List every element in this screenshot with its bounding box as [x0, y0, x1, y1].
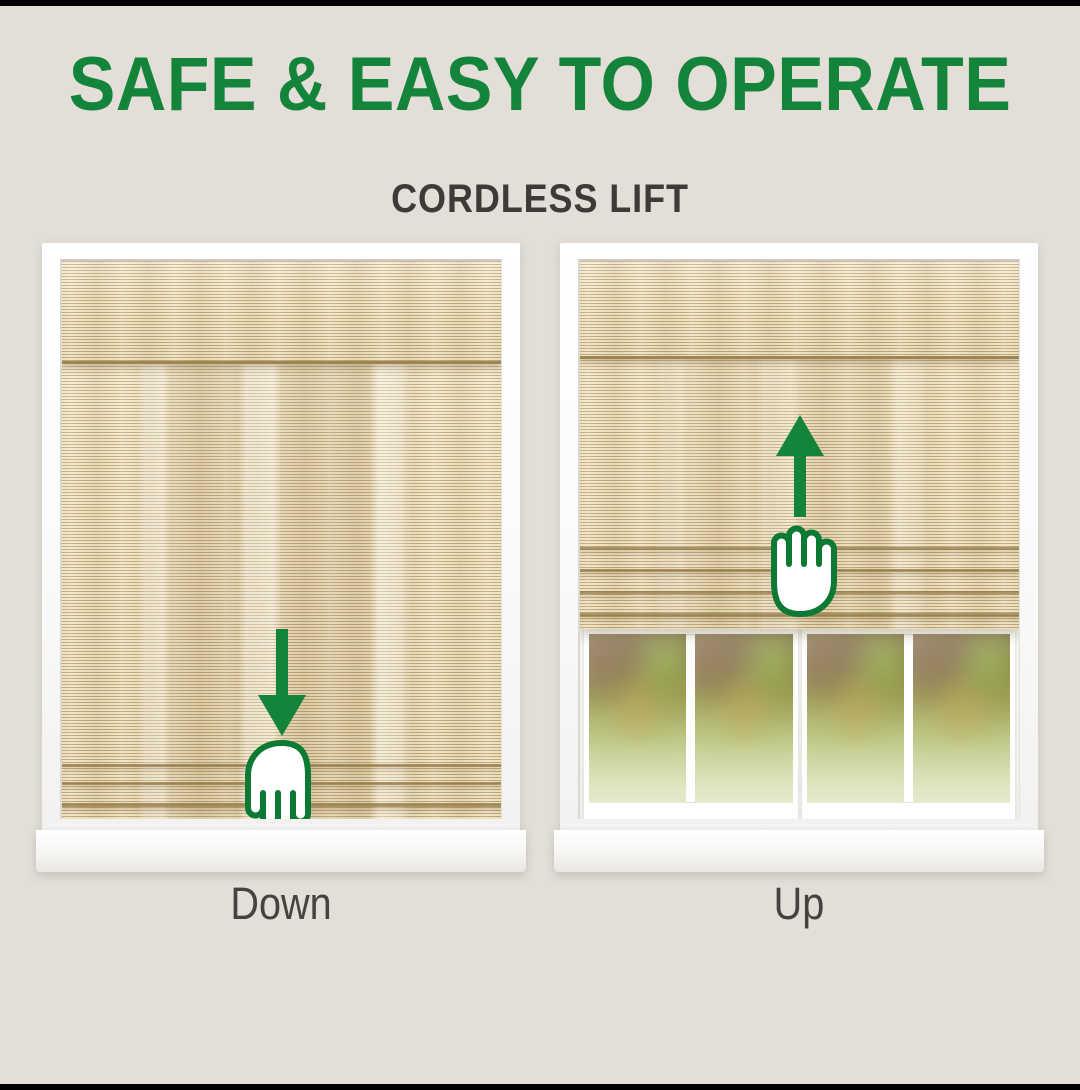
window-sash-right: [802, 629, 1016, 819]
window-glass-up: [580, 623, 1019, 819]
glass-pane: [913, 634, 1010, 803]
page-subtitle: CORDLESS LIFT: [54, 176, 1026, 222]
caption-up: Up: [589, 878, 1010, 930]
comparison-panels: Down: [0, 243, 1080, 923]
glass-pane: [695, 634, 792, 803]
gesture-down: [227, 629, 337, 819]
arrow-down-icon: [258, 629, 306, 736]
hand-press-down-icon: [248, 743, 308, 819]
caption-down: Down: [71, 878, 492, 930]
window-opening-down: [60, 259, 502, 819]
arrow-up-icon: [776, 415, 824, 517]
panel-down: Down: [42, 243, 520, 858]
shade-valance-down: [62, 261, 501, 364]
glass-pane: [589, 634, 686, 803]
gesture-up: [745, 409, 855, 624]
letterbox-bar-top: [0, 0, 1080, 6]
shade-valance-up: [580, 261, 1019, 359]
window-sash-left: [584, 629, 798, 819]
window-opening-up: [578, 259, 1020, 819]
window-frame-up: [560, 243, 1038, 858]
window-frame-down: [42, 243, 520, 858]
hand-press-up-icon: [774, 529, 834, 615]
page-title: SAFE & EASY TO OPERATE: [43, 44, 1037, 126]
letterbox-bar-bottom: [0, 1084, 1080, 1090]
glass-pane: [807, 634, 904, 803]
panel-up: Up: [560, 243, 1038, 858]
